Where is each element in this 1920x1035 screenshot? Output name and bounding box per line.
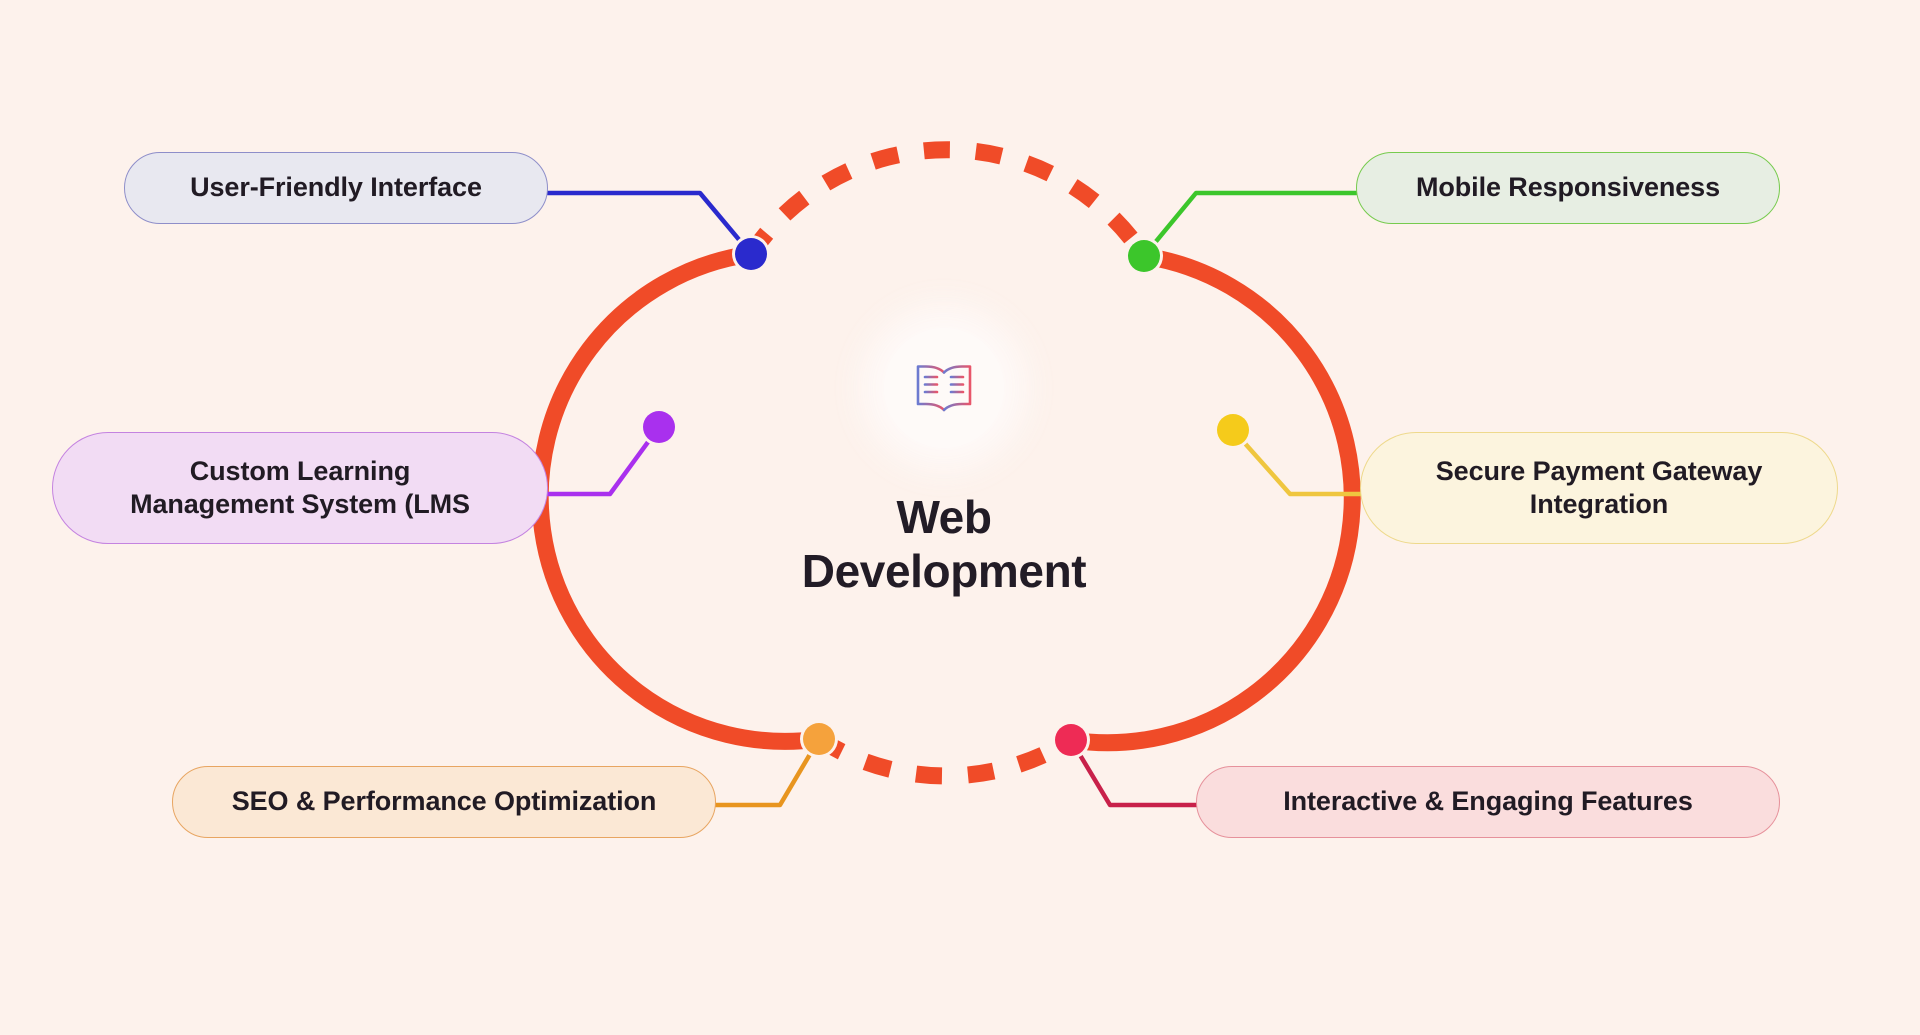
node-label-text: User-Friendly Interface — [190, 171, 482, 204]
node-label-text: Custom Learning Management System (LMS — [130, 455, 470, 522]
open-book-icon — [913, 359, 975, 417]
node-dot-user-friendly-interface-core[interactable] — [735, 238, 767, 270]
page-title: Web Development — [660, 490, 1228, 599]
node-label-text: Mobile Responsiveness — [1416, 171, 1720, 204]
node-label-text: Secure Payment Gateway Integration — [1436, 455, 1762, 522]
node-label-user-friendly-interface[interactable]: User-Friendly Interface — [124, 152, 548, 224]
hub-title-line-1: Web — [660, 490, 1228, 544]
node-label-text: Interactive & Engaging Features — [1283, 785, 1693, 818]
node-dot-custom-lms-core[interactable] — [643, 411, 675, 443]
connector-user-friendly-interface — [548, 193, 751, 254]
connector-mobile-responsiveness — [1144, 193, 1356, 256]
node-dot-mobile-responsiveness-core[interactable] — [1128, 240, 1160, 272]
node-label-custom-lms[interactable]: Custom Learning Management System (LMS — [52, 432, 548, 544]
node-dot-seo-performance-optimization-core[interactable] — [803, 723, 835, 755]
diagram-canvas: Web Development User-Friendly Interface … — [0, 0, 1920, 1035]
node-dot-interactive-engaging-features-core[interactable] — [1055, 724, 1087, 756]
hub-icon-badge — [884, 328, 1004, 448]
hub-title-line-2: Development — [660, 544, 1228, 598]
node-label-mobile-responsiveness[interactable]: Mobile Responsiveness — [1356, 152, 1780, 224]
node-label-text: SEO & Performance Optimization — [232, 785, 657, 818]
node-label-line-2: Management System (LMS — [130, 489, 470, 519]
ring-arc-bottom-dashed — [819, 739, 1071, 776]
node-label-line-1: Secure Payment Gateway — [1436, 456, 1762, 486]
node-label-secure-payment-gateway-integration[interactable]: Secure Payment Gateway Integration — [1360, 432, 1838, 544]
node-label-seo-performance-optimization[interactable]: SEO & Performance Optimization — [172, 766, 716, 838]
connector-custom-lms — [548, 427, 659, 494]
node-label-interactive-engaging-features[interactable]: Interactive & Engaging Features — [1196, 766, 1780, 838]
node-dot-secure-payment-gateway-integration-core[interactable] — [1217, 414, 1249, 446]
node-label-line-2: Integration — [1530, 489, 1668, 519]
node-label-line-1: Custom Learning — [190, 456, 411, 486]
ring-arc-top-dashed — [751, 150, 1144, 256]
